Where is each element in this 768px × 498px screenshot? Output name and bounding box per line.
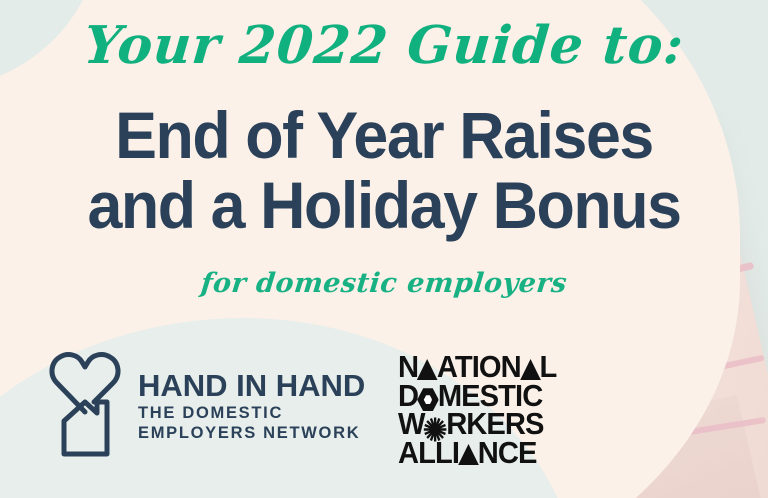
hand-in-hand-tagline-1: THE DOMESTIC <box>138 403 365 423</box>
poster-content: Your 2022 Guide to: End of Year Raises a… <box>0 0 768 498</box>
triangle-glyph-icon <box>417 359 438 380</box>
poster-canvas: Your 2022 Guide to: End of Year Raises a… <box>0 0 768 498</box>
ndwa-alliance-part2: NCE <box>478 439 537 468</box>
ndwa-alliance-part1: ALLI <box>398 439 459 468</box>
heart-house-icon <box>48 350 122 462</box>
hand-in-hand-name: HAND IN HAND <box>138 368 365 403</box>
page-title: End of Year Raises and a Holiday Bonus <box>19 100 749 240</box>
hand-in-hand-wordmark: HAND IN HAND THE DOMESTIC EMPLOYERS NETW… <box>138 369 365 443</box>
ndwa-line-alliance: ALLI NCE <box>398 439 556 468</box>
triangle-glyph-icon <box>458 444 479 465</box>
headline-line-2: and a Holiday Bonus <box>19 170 749 240</box>
logo-hand-in-hand: HAND IN HAND THE DOMESTIC EMPLOYERS NETW… <box>48 350 365 462</box>
subtitle-text: for domestic employers <box>0 268 768 299</box>
starburst-glyph-icon <box>424 417 448 442</box>
hand-in-hand-tagline-2: EMPLOYERS NETWORK <box>138 423 365 443</box>
headline-line-1: End of Year Raises <box>115 98 653 172</box>
triangle-glyph-icon <box>520 359 541 380</box>
logo-ndwa: N ATION L D MESTIC W <box>398 353 556 467</box>
kicker-text: Your 2022 Guide to: <box>0 8 768 84</box>
